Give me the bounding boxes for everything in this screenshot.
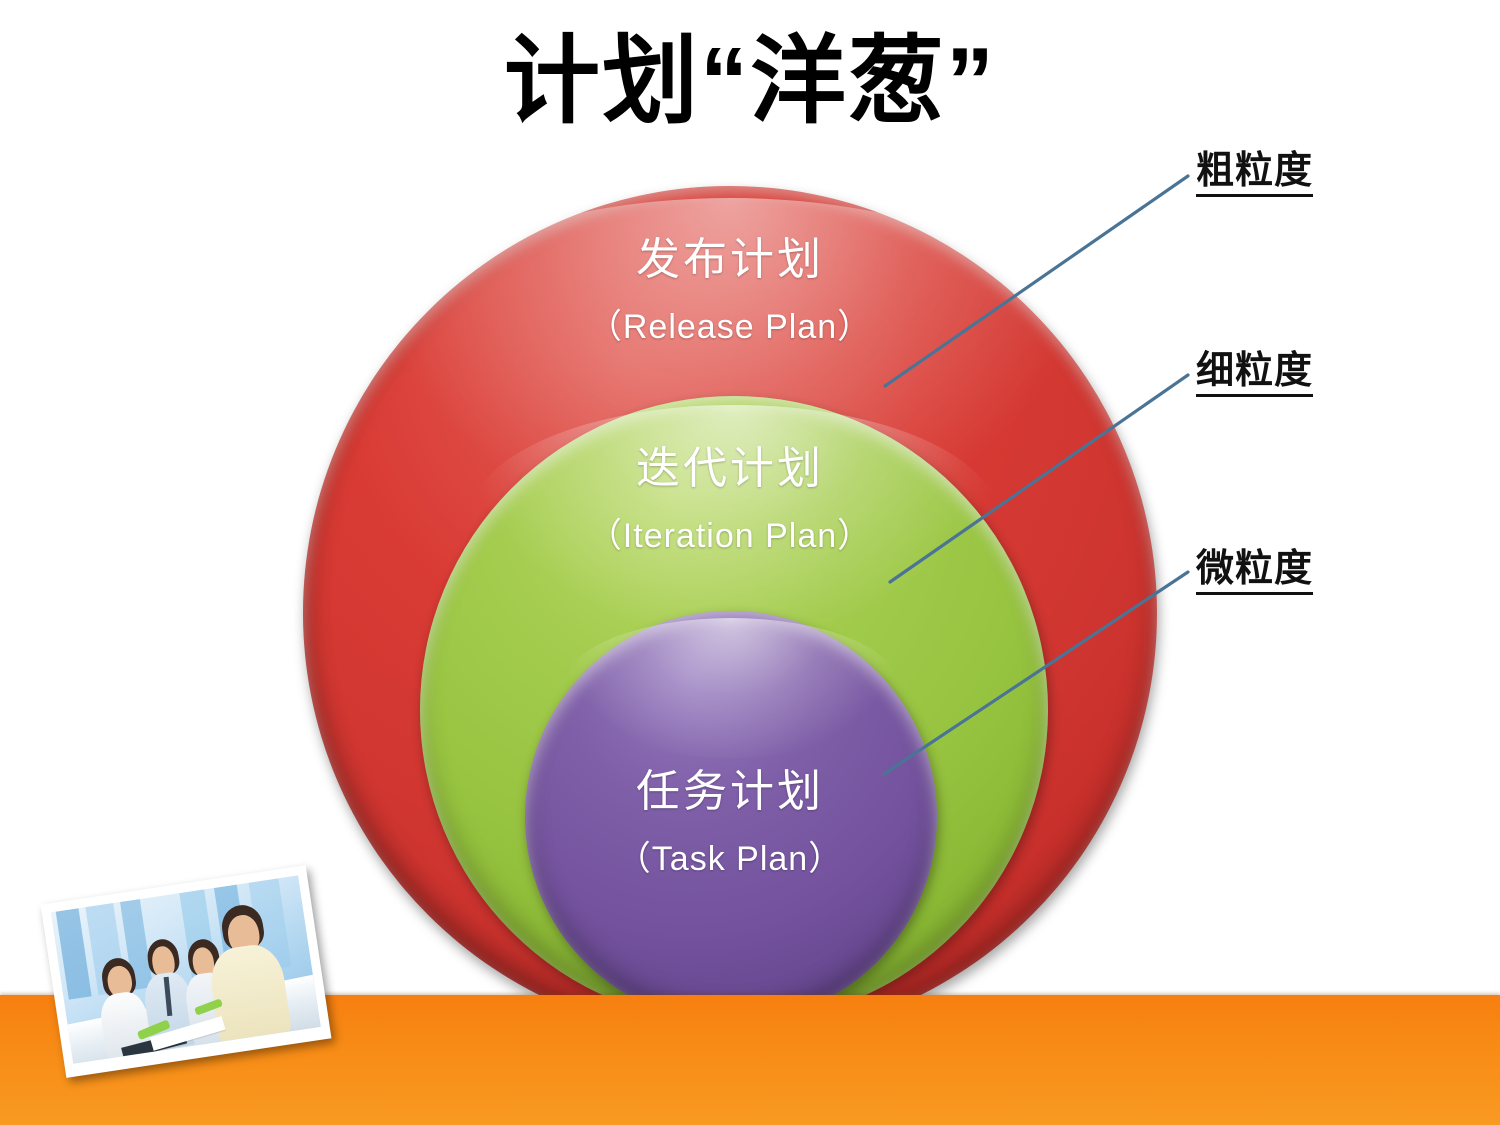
slide-canvas: 计划“洋葱” 发布计划 （Release Plan） 迭代计划 （Iterati… [0, 0, 1500, 1125]
callout-label-coarse: 粗粒度 [1196, 152, 1313, 197]
ring-task-plan[interactable] [525, 611, 937, 1023]
callout-label-micro: 微粒度 [1196, 550, 1313, 595]
window-blind [56, 908, 91, 999]
callout-label-fine: 细粒度 [1196, 352, 1313, 397]
photo-image [51, 875, 321, 1063]
